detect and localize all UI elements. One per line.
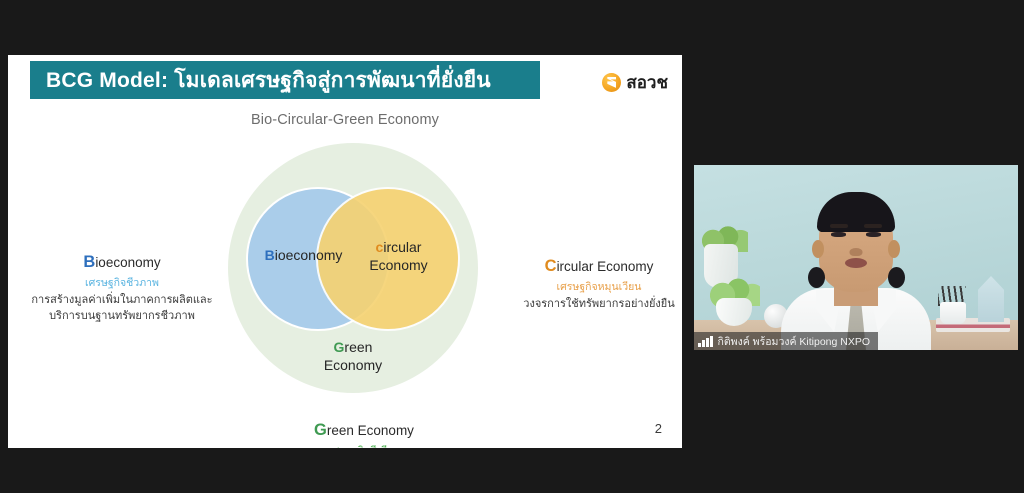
headphone-earcup-left <box>808 267 825 288</box>
callout-green-heading: Green Economy <box>256 421 472 440</box>
presentation-slide: BCG Model: โมเดลเศรษฐกิจสู่การพัฒนาที่ยั… <box>8 55 682 448</box>
slide-subtitle: Bio-Circular-Green Economy <box>8 112 682 128</box>
person-ear-left <box>812 240 824 258</box>
callout-bio-description: การสร้างมูลค่าเพิ่มในภาคการผลิตและ บริกา… <box>22 293 222 325</box>
venn-label-bio-cap: B <box>265 247 275 263</box>
venn-diagram: Bioeconomy circular Economy Green Econom… <box>228 143 478 393</box>
person-ear-right <box>888 240 900 258</box>
screen-share-view: BCG Model: โมเดลเศรษฐกิจสู่การพัฒนาที่ยั… <box>0 0 1024 493</box>
participant-name-badge: กิติพงค์ พร้อมวงค์ Kitipong NXPO <box>694 332 878 350</box>
page-title: BCG Model: โมเดลเศรษฐกิจสู่การพัฒนาที่ยั… <box>46 64 491 97</box>
slide-title-bar: BCG Model: โมเดลเศรษฐกิจสู่การพัฒนาที่ยั… <box>30 61 540 99</box>
person-eyebrow-left <box>830 224 848 228</box>
callout-bio-desc-line1: การสร้างมูลค่าเพิ่มในภาคการผลิตและ <box>31 294 212 306</box>
callout-green-thai-title: เศรษฐกิจสีเขียว <box>256 442 472 448</box>
callout-bio-cap: B <box>83 253 95 271</box>
callout-green-economy: Green Economy เศรษฐกิจสีเขียว การผลิตที่… <box>256 421 472 448</box>
person-eye-right <box>866 232 881 237</box>
organization-logo: สอวช <box>602 69 668 96</box>
person-eyebrow-right <box>864 224 882 228</box>
nxpo-swoosh-logo-icon <box>602 73 621 92</box>
callout-circ-description: วงจรการใช้ทรัพยากรอย่างยั่งยืน <box>514 297 682 313</box>
venn-label-green-line2: Economy <box>324 357 382 373</box>
callout-green-rest: reen Economy <box>327 423 414 438</box>
signal-bars-icon <box>698 336 713 347</box>
person-mouth <box>845 258 867 268</box>
callout-circ-rest: ircular Economy <box>557 259 654 274</box>
callout-bio-thai-title: เศรษฐกิจชีวภาพ <box>22 274 222 291</box>
callout-circ-desc-line1: วงจรการใช้ทรัพยากรอย่างยั่งยืน <box>523 298 674 310</box>
venn-label-green-cap: G <box>334 339 345 355</box>
callout-bio-desc-line2: บริการบนฐานทรัพยากรชีวภาพ <box>49 310 195 322</box>
participant-name-label: กิติพงค์ พร้อมวงค์ Kitipong NXPO <box>718 333 871 350</box>
person-eye-left <box>831 232 846 237</box>
callout-circ-cap: C <box>545 257 557 275</box>
slide-page-number: 2 <box>655 421 662 436</box>
callout-green-cap: G <box>314 421 327 439</box>
venn-label-green-rest: reen <box>344 339 372 355</box>
callout-circ-thai-title: เศรษฐกิจหมุนเวียน <box>514 278 682 295</box>
callout-circ-heading: Circular Economy <box>514 257 682 276</box>
logo-label: สอวช <box>626 69 668 96</box>
desk-pencil-cup <box>940 302 966 324</box>
person-nose <box>850 248 863 256</box>
participant-video-tile[interactable]: กิติพงค์ พร้อมวงค์ Kitipong NXPO <box>694 165 1018 350</box>
callout-bio-heading: Bioeconomy <box>22 253 222 272</box>
callout-bioeconomy: Bioeconomy เศรษฐกิจชีวภาพ การสร้างมูลค่า… <box>22 253 222 325</box>
callout-circular-economy: Circular Economy เศรษฐกิจหมุนเวียน วงจรก… <box>514 257 682 313</box>
callout-bio-rest: ioeconomy <box>95 255 160 270</box>
headphone-earcup-right <box>888 267 905 288</box>
venn-label-circ-line2: Economy <box>369 257 427 273</box>
venn-label-green: Green Economy <box>283 339 423 374</box>
venn-label-bio-rest: ioeconomy <box>275 247 343 263</box>
venn-label-circular: circular Economy <box>346 239 451 274</box>
venn-label-circ-rest: ircular <box>383 239 421 255</box>
